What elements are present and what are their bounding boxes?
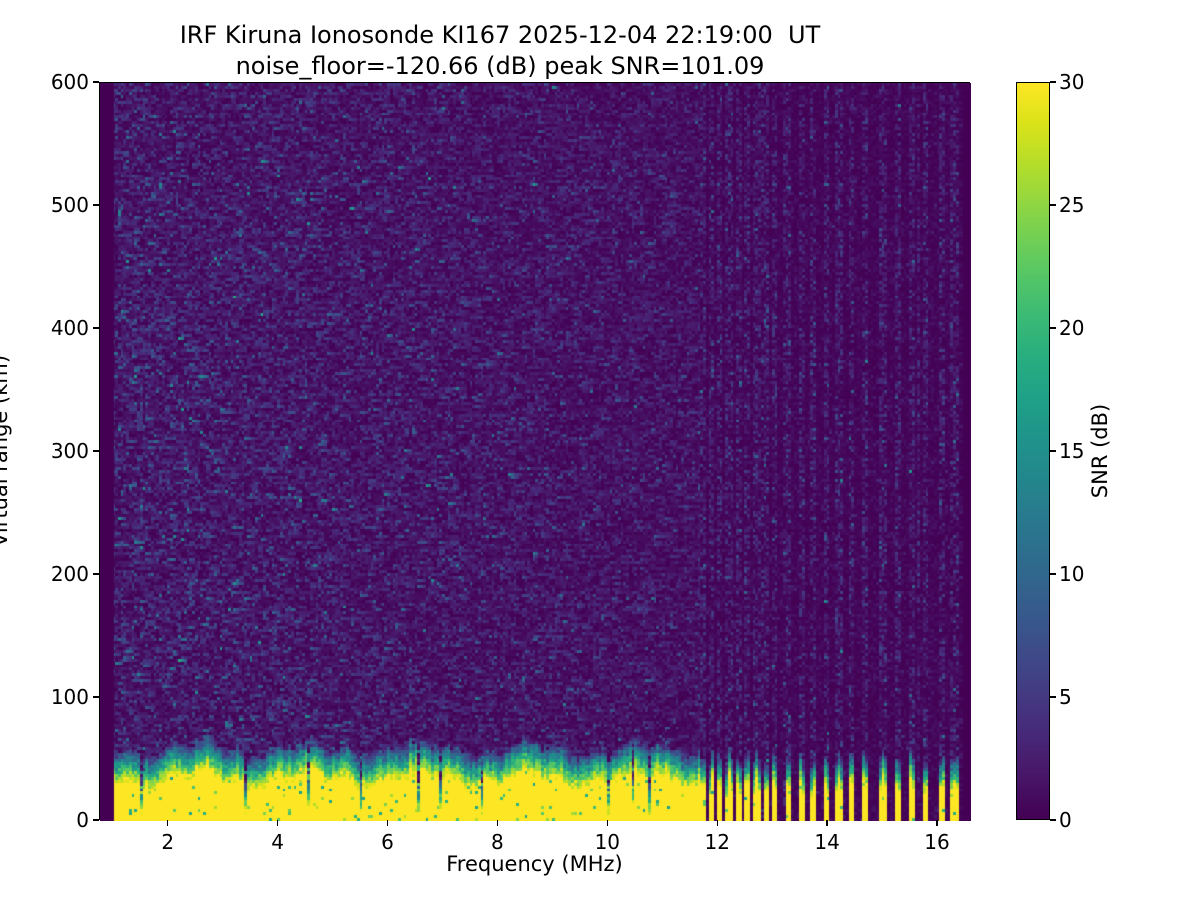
x-tick-label: 16 (897, 830, 977, 854)
colorbar-tick-label: 25 (1059, 193, 1119, 217)
y-tick-mark (93, 573, 99, 574)
y-tick-label: 300 (19, 439, 89, 463)
colorbar-tick-mark (1050, 819, 1056, 820)
colorbar-tick-mark (1050, 327, 1056, 328)
colorbar-tick-label: 5 (1059, 685, 1119, 709)
x-tick-label: 8 (457, 830, 537, 854)
y-tick-label: 200 (19, 562, 89, 586)
x-tick-label: 14 (787, 830, 867, 854)
title-line-1: IRF Kiruna Ionosonde KI167 2025-12-04 22… (0, 20, 1000, 51)
x-tick-mark (826, 820, 827, 826)
title-line-2: noise_floor=-120.66 (dB) peak SNR=101.09 (0, 51, 1000, 82)
x-tick-mark (277, 820, 278, 826)
colorbar-tick-label: 10 (1059, 562, 1119, 586)
y-tick-label: 400 (19, 316, 89, 340)
y-tick-mark (93, 696, 99, 697)
y-tick-label: 0 (19, 808, 89, 832)
ionogram-axes (99, 82, 970, 820)
x-tick-mark (607, 820, 608, 826)
colorbar-tick-label: 30 (1059, 70, 1119, 94)
x-tick-mark (387, 820, 388, 826)
x-tick-mark (936, 820, 937, 826)
colorbar-label: SNR (dB) (1088, 404, 1112, 498)
x-axis-label: Frequency (MHz) (99, 852, 970, 876)
y-tick-label: 500 (19, 193, 89, 217)
colorbar-tick-label: 20 (1059, 316, 1119, 340)
x-tick-mark (497, 820, 498, 826)
snr-colorbar (1016, 82, 1050, 820)
colorbar-tick-mark (1050, 696, 1056, 697)
ionogram-heatmap (100, 83, 971, 821)
y-tick-mark (93, 204, 99, 205)
y-axis-label: Virtual range (km) (0, 355, 12, 547)
y-tick-label: 600 (19, 70, 89, 94)
x-tick-label: 12 (677, 830, 757, 854)
colorbar-tick-mark (1050, 450, 1056, 451)
x-tick-mark (717, 820, 718, 826)
y-tick-mark (93, 450, 99, 451)
x-tick-label: 10 (567, 830, 647, 854)
ionogram-figure: IRF Kiruna Ionosonde KI167 2025-12-04 22… (0, 0, 1200, 900)
y-tick-label: 100 (19, 685, 89, 709)
y-tick-mark (93, 81, 99, 82)
x-tick-label: 2 (128, 830, 208, 854)
colorbar-tick-mark (1050, 573, 1056, 574)
colorbar-tick-mark (1050, 204, 1056, 205)
figure-title: IRF Kiruna Ionosonde KI167 2025-12-04 22… (0, 20, 1000, 82)
x-tick-mark (167, 820, 168, 826)
colorbar-gradient (1017, 83, 1049, 819)
colorbar-tick-mark (1050, 81, 1056, 82)
y-tick-mark (93, 819, 99, 820)
x-tick-label: 4 (238, 830, 318, 854)
y-tick-mark (93, 327, 99, 328)
colorbar-tick-label: 0 (1059, 808, 1119, 832)
x-tick-label: 6 (348, 830, 428, 854)
